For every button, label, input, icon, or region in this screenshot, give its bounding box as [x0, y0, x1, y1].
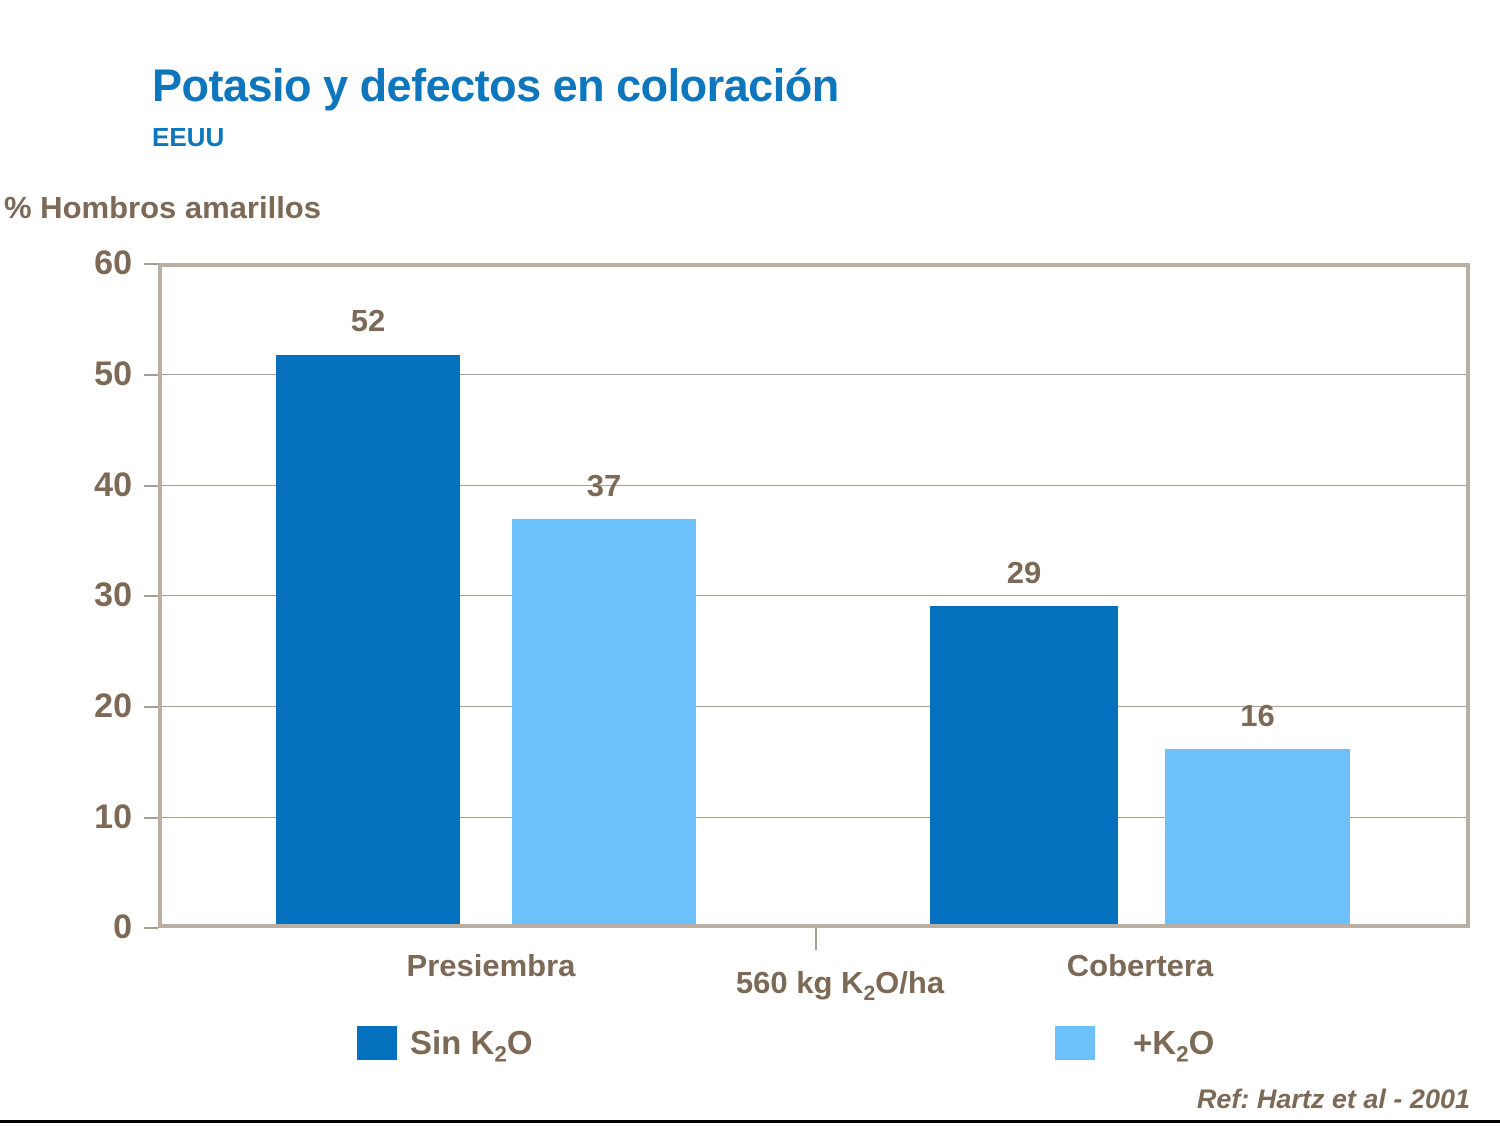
bar-value-presiembra-mas-k2o: 37: [512, 470, 696, 501]
y-tick-mark-60: [144, 263, 158, 265]
y-tick-label-40: 40: [62, 468, 132, 502]
x-category-label-presiembra: Presiembra: [296, 950, 686, 981]
plot-area: [158, 263, 1470, 928]
reference-note: Ref: Hartz et al - 2001: [1197, 1084, 1470, 1115]
x-axis-title-post: O/ha: [875, 965, 944, 1000]
legend-label-mas-k2o-post: O: [1189, 1024, 1215, 1061]
bar-value-cobertera-sin-k2o: 29: [930, 557, 1118, 588]
y-axis-title: % Hombros amarillos: [4, 190, 321, 226]
x-axis-title: 560 kg K2O/ha: [655, 967, 1025, 1004]
page-title: Potasio y defectos en coloración: [152, 60, 839, 112]
bar-presiembra-mas-k2o[interactable]: [512, 519, 696, 924]
bar-cobertera-sin-k2o[interactable]: [930, 606, 1118, 924]
legend-label-mas-k2o-subscript: 2: [1176, 1042, 1188, 1067]
legend-label-mas-k2o: +K2O: [1133, 1026, 1214, 1066]
y-tick-label-60: 60: [62, 246, 132, 280]
y-tick-mark-50: [144, 374, 158, 376]
bottom-divider: [0, 1120, 1500, 1123]
x-axis-title-pre: 560 kg K: [736, 965, 864, 1000]
y-tick-mark-10: [144, 817, 158, 819]
bar-value-presiembra-sin-k2o: 52: [276, 305, 460, 336]
legend-swatch-sin-k2o[interactable]: [357, 1026, 397, 1060]
y-tick-mark-20: [144, 706, 158, 708]
x-axis-title-subscript: 2: [863, 982, 875, 1005]
page-subtitle: EEUU: [152, 122, 224, 153]
y-tick-label-20: 20: [62, 689, 132, 723]
legend-label-sin-k2o: Sin K2O: [410, 1026, 533, 1066]
y-tick-label-10: 10: [62, 800, 132, 834]
y-tick-label-30: 30: [62, 578, 132, 612]
legend-label-sin-k2o-pre: Sin K: [410, 1024, 494, 1061]
y-tick-label-50: 50: [62, 357, 132, 391]
bar-presiembra-sin-k2o[interactable]: [276, 355, 460, 924]
legend-label-sin-k2o-subscript: 2: [494, 1042, 506, 1067]
bar-cobertera-mas-k2o[interactable]: [1165, 749, 1350, 924]
bar-value-cobertera-mas-k2o: 16: [1165, 700, 1350, 731]
legend-label-sin-k2o-post: O: [507, 1024, 533, 1061]
y-tick-mark-0: [144, 927, 158, 929]
legend-swatch-mas-k2o[interactable]: [1055, 1026, 1095, 1060]
y-tick-label-0: 0: [62, 910, 132, 944]
x-axis-tick-mark: [815, 928, 817, 950]
y-tick-mark-30: [144, 595, 158, 597]
y-tick-mark-40: [144, 485, 158, 487]
legend-label-mas-k2o-pre: +K: [1133, 1024, 1176, 1061]
